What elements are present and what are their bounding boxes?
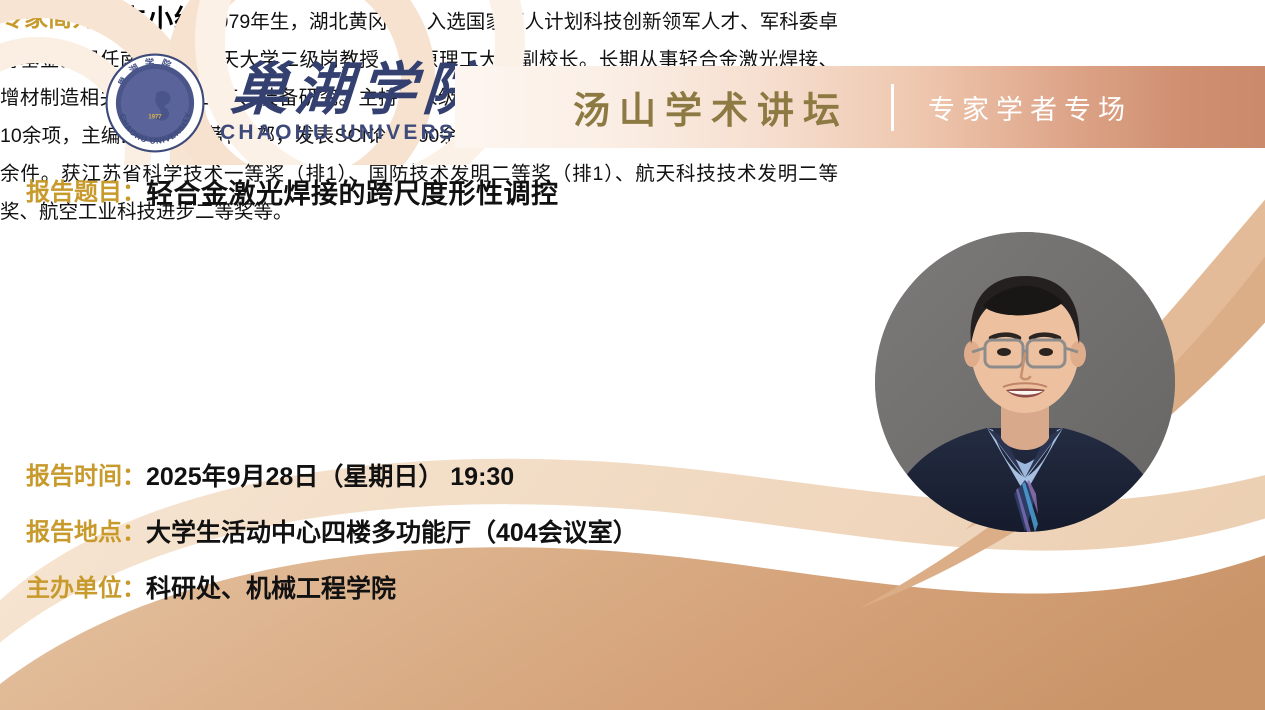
- report-title-row: 报告题目： 轻合金激光焊接的跨尺度形性调控: [26, 178, 559, 212]
- report-place-value: 大学生活动中心四楼多功能厅（404会议室）: [146, 518, 638, 549]
- report-time-row: 报告时间： 2025年9月28日（星期日） 19:30: [26, 462, 514, 493]
- forum-banner: 汤山学术讲坛 专家学者专场: [455, 66, 1265, 148]
- speaker-portrait: [875, 232, 1175, 532]
- university-logo: 1977 CHAOHU UNIVERSITY 巢湖学院 巢湖学院 CHAOHU …: [104, 52, 498, 154]
- university-seal-icon: 1977 CHAOHU UNIVERSITY 巢湖学院: [104, 52, 206, 154]
- banner-divider: [891, 84, 894, 131]
- seminar-poster: 1977 CHAOHU UNIVERSITY 巢湖学院 巢湖学院 CHAOHU …: [0, 0, 1265, 710]
- report-time-label: 报告时间：: [26, 462, 146, 492]
- report-host-label: 主办单位：: [26, 574, 146, 604]
- report-place-row: 报告地点： 大学生活动中心四楼多功能厅（404会议室）: [26, 518, 638, 549]
- report-time-value: 2025年9月28日（星期日） 19:30: [146, 462, 514, 493]
- forum-title: 汤山学术讲坛: [573, 80, 849, 134]
- report-place-label: 报告地点：: [26, 518, 146, 548]
- report-host-row: 主办单位： 科研处、机械工程学院: [26, 574, 396, 605]
- university-name-cn: 巢湖学院: [229, 62, 489, 119]
- report-title-value: 轻合金激光焊接的跨尺度形性调控: [146, 178, 559, 212]
- poster-header: 1977 CHAOHU UNIVERSITY 巢湖学院 巢湖学院 CHAOHU …: [0, 0, 1265, 165]
- forum-subtitle: 专家学者专场: [928, 88, 1132, 127]
- speaker-photo: [875, 232, 1175, 532]
- report-host-value: 科研处、机械工程学院: [146, 574, 396, 605]
- report-title-label: 报告题目：: [26, 178, 146, 208]
- svg-text:1977: 1977: [148, 114, 162, 120]
- wave-dark: [0, 547, 1265, 710]
